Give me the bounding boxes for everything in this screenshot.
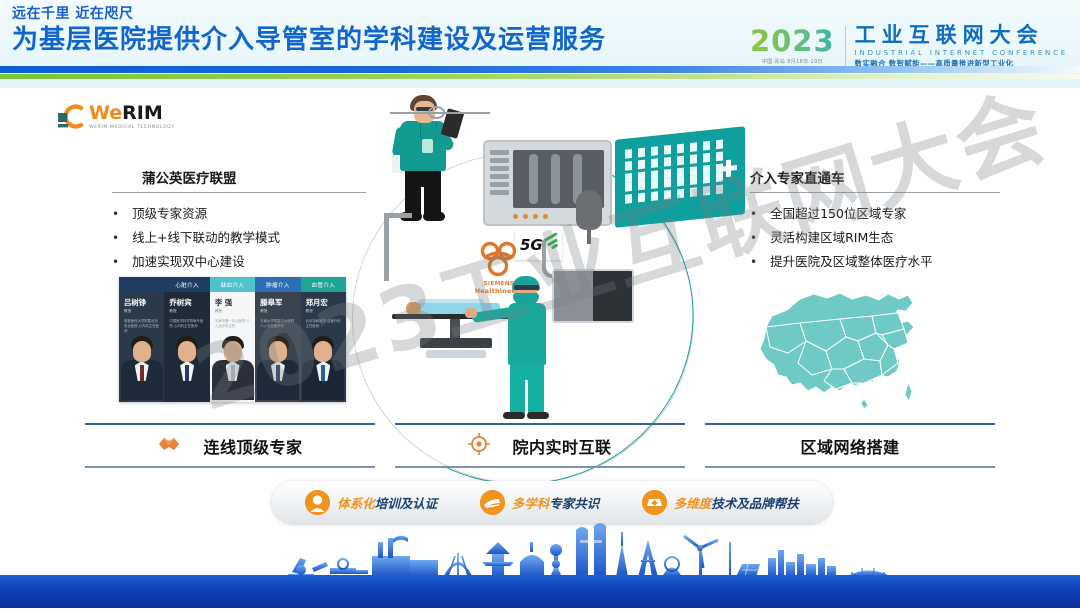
expert-desc: 东南大学附属中大医院 介入与血管外科 (260, 319, 295, 329)
expert-desc: 首都医科大学附属北京安贞医院 心内科主任医师 (124, 319, 159, 334)
expert-tab[interactable]: 缺血介入 (210, 277, 255, 292)
equipment-stand-arm (384, 213, 412, 218)
banner-rest: 技术及品牌帮扶 (711, 496, 799, 511)
expert-tab[interactable]: 心脏介入 (164, 277, 209, 292)
center-illustration: 5G SIEMENS Healthineers (330, 90, 750, 420)
werim-wordmark: WeRIM WERIM MEDICAL TECHNOLOGY (89, 104, 175, 131)
bullet-icon: • (112, 202, 119, 226)
werim-rim: RIM (122, 102, 163, 124)
angio-screen (552, 269, 634, 323)
expert-tab[interactable] (119, 277, 164, 292)
expert-role: 教授 (124, 309, 164, 314)
conference-date: 中国·青岛 8月18日-19日 (751, 58, 834, 65)
list-item: •顶级专家资源 (112, 202, 366, 226)
right-panel-title: 介入专家直通车 (750, 167, 1000, 192)
expert-photo (210, 336, 255, 402)
tree-icon (576, 190, 602, 244)
logo-divider (845, 26, 846, 66)
left-panel-rule (112, 192, 366, 193)
banner-item-text: 多学科专家共识 (512, 493, 600, 512)
service-banner: 体系化培训及认证 多学科专家共识 多维度技术及品牌帮扶 (272, 481, 832, 523)
expert-card[interactable]: 心脏介入 乔树宾 教授 中国医学科学院阜外医院 心内科主任医师 (164, 277, 209, 402)
china-map-illustration (748, 283, 958, 413)
banner-highlight: 体系化 (337, 496, 375, 511)
bullet-icon: • (750, 226, 757, 250)
equipment-stand (384, 213, 389, 281)
expert-name: 乔树宾 (169, 297, 209, 308)
expert-name: 滕皋军 (260, 297, 300, 308)
target-icon (468, 433, 490, 459)
expert-desc: 天津市第一中心医院 介入治疗科主任 (215, 319, 250, 329)
bottom-label-3: 区域网络搭建 (705, 423, 995, 468)
werim-mark-icon (57, 104, 85, 130)
bullet-icon: • (112, 226, 119, 250)
bullet-icon: • (112, 250, 119, 274)
bottom-label-1: 连线顶级专家 (85, 423, 375, 468)
left-panel-title: 蒲公英医疗联盟 (112, 167, 366, 192)
surgeon-illustration (498, 276, 558, 426)
expert-body: 滕皋军 教授 东南大学附属中大医院 介入与血管外科 (255, 292, 300, 402)
expert-role: 教授 (169, 309, 209, 314)
conference-logo: 2023 中国·青岛 8月18日-19日 工业互联网大会 INDUSTRIAL … (750, 24, 1068, 67)
bottom-label-text: 连线顶级专家 (203, 434, 302, 458)
bottom-label-text: 区域网络搭建 (800, 434, 899, 458)
bullet-icon: • (750, 202, 757, 226)
banner-item-text: 多维度技术及品牌帮扶 (674, 493, 799, 512)
banner-rest: 培训及认证 (375, 496, 438, 511)
banner-item[interactable]: 体系化培训及认证 (305, 490, 437, 515)
list-item: •全国超过150位区域专家 (750, 202, 1000, 226)
list-item-label: 线上+线下联动的教学模式 (132, 226, 280, 250)
expert-photo (255, 336, 300, 402)
expert-role: 教授 (215, 309, 255, 314)
conference-name-cn: 工业互联网大会 (855, 24, 1068, 47)
list-item-label: 全国超过150位区域专家 (770, 202, 906, 226)
expert-body: 乔树宾 教授 中国医学科学院阜外医院 心内科主任医师 (164, 292, 209, 402)
list-item: •加速实现双中心建设 (112, 250, 366, 274)
banner-item[interactable]: 多维度技术及品牌帮扶 (642, 490, 799, 515)
list-item: •线上+线下联动的教学模式 (112, 226, 366, 250)
expert-name: 吕树铮 (124, 297, 164, 308)
expert-body: 李 强 教授 天津市第一中心医院 介入治疗科主任 (210, 292, 255, 402)
list-item-label: 顶级专家资源 (132, 202, 207, 226)
medical-cross-icon (720, 165, 737, 172)
hand-book-icon (480, 490, 505, 515)
list-item-label: 提升医院及区域整体医疗水平 (770, 250, 933, 274)
conference-year-block: 2023 中国·青岛 8月18日-19日 (750, 26, 845, 65)
hospital-building-icon (615, 126, 745, 228)
werim-logo: WeRIM WERIM MEDICAL TECHNOLOGY (57, 104, 175, 131)
banner-highlight: 多维度 (674, 496, 712, 511)
water-band (0, 575, 1080, 608)
header-rule-green (0, 74, 1080, 79)
left-info-panel: 蒲公英医疗联盟 •顶级专家资源 •线上+线下联动的教学模式 •加速实现双中心建设 (112, 167, 366, 274)
list-item: •提升医院及区域整体医疗水平 (750, 250, 1000, 274)
expert-card[interactable]: 缺血介入 李 强 教授 天津市第一中心医院 介入治疗科主任 (210, 277, 255, 402)
person-head-icon (305, 490, 330, 515)
expert-card[interactable]: 肿瘤介入 滕皋军 教授 东南大学附属中大医院 介入与血管外科 (255, 277, 300, 402)
right-panel-rule (750, 192, 1000, 193)
conference-year: 2023 (750, 26, 835, 56)
bottom-label-2: 院内实时互联 (395, 423, 685, 468)
list-item: •灵活构建区域RIM生态 (750, 226, 1000, 250)
banner-item-text: 体系化培训及认证 (337, 493, 437, 512)
expert-card[interactable]: 吕树铮 教授 首都医科大学附属北京安贞医院 心内科主任医师 (119, 277, 164, 402)
list-item-label: 加速实现双中心建设 (132, 250, 245, 274)
handshake-icon (157, 435, 181, 457)
siemens-mark-icon (476, 238, 522, 278)
conference-name-block: 工业互联网大会 INDUSTRIAL INTERNET CONFERENCE 数… (855, 24, 1068, 67)
expert-photo (164, 336, 209, 402)
page-title: 为基层医院提供介入导管室的学科建设及运营服务 (12, 24, 606, 56)
doctor-with-tablet-illustration (392, 95, 462, 225)
bullet-icon: • (750, 250, 757, 274)
monitor-knob (428, 106, 445, 119)
banner-item[interactable]: 多学科专家共识 (480, 490, 600, 515)
nurse-cap-icon (642, 490, 667, 515)
left-panel-list: •顶级专家资源 •线上+线下联动的教学模式 •加速实现双中心建设 (112, 202, 366, 274)
werim-tagline: WERIM MEDICAL TECHNOLOGY (89, 126, 175, 131)
list-item-label: 灵活构建区域RIM生态 (770, 226, 893, 250)
banner-highlight: 多学科 (512, 496, 550, 511)
header-rule-blue (0, 66, 1080, 73)
expert-desc: 中国医学科学院阜外医院 心内科主任医师 (169, 319, 204, 329)
header-subtitle: 远在千里 近在咫尺 (12, 5, 606, 23)
expert-body: 吕树铮 教授 首都医科大学附属北京安贞医院 心内科主任医师 (119, 292, 164, 402)
banner-rest: 专家共识 (549, 496, 599, 511)
bottom-label-text: 院内实时互联 (512, 434, 611, 458)
werim-we: We (89, 102, 122, 124)
expert-role: 教授 (260, 309, 300, 314)
right-info-panel: 介入专家直通车 •全国超过150位区域专家 •灵活构建区域RIM生态 •提升医院… (750, 167, 1000, 274)
right-panel-list: •全国超过150位区域专家 •灵活构建区域RIM生态 •提升医院及区域整体医疗水… (750, 202, 1000, 274)
expert-name: 李 强 (215, 297, 255, 308)
header-title-block: 远在千里 近在咫尺 为基层医院提供介入导管室的学科建设及运营服务 (12, 5, 606, 56)
conference-name-en: INDUSTRIAL INTERNET CONFERENCE (855, 50, 1068, 57)
expert-tab[interactable]: 肿瘤介入 (255, 277, 300, 292)
expert-photo (119, 336, 164, 402)
expert-gallery: 吕树铮 教授 首都医科大学附属北京安贞医院 心内科主任医师 心脏介入 乔树宾 教… (119, 277, 346, 402)
page-header: 远在千里 近在咫尺 为基层医院提供介入导管室的学科建设及运营服务 2023 中国… (0, 0, 1080, 88)
